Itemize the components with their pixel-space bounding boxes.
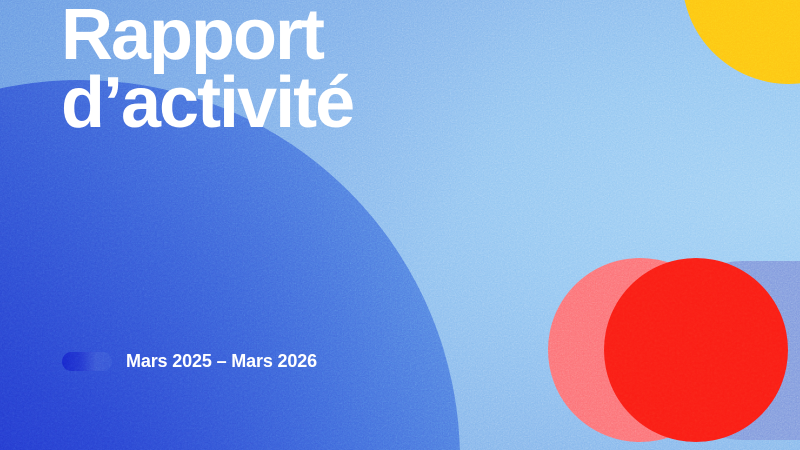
overlapping-circles-group	[548, 258, 800, 443]
red-circle-shape	[604, 258, 788, 442]
date-range-row: Mars 2025 – Mars 2026	[62, 351, 317, 372]
page-title: Rapport d’activité	[61, 2, 353, 137]
report-cover-slide: Rapport d’activité Mars 2025 – Mars 2026	[0, 0, 800, 450]
date-range-label: Mars 2025 – Mars 2026	[126, 351, 317, 372]
date-marker-pill-icon	[62, 352, 112, 371]
